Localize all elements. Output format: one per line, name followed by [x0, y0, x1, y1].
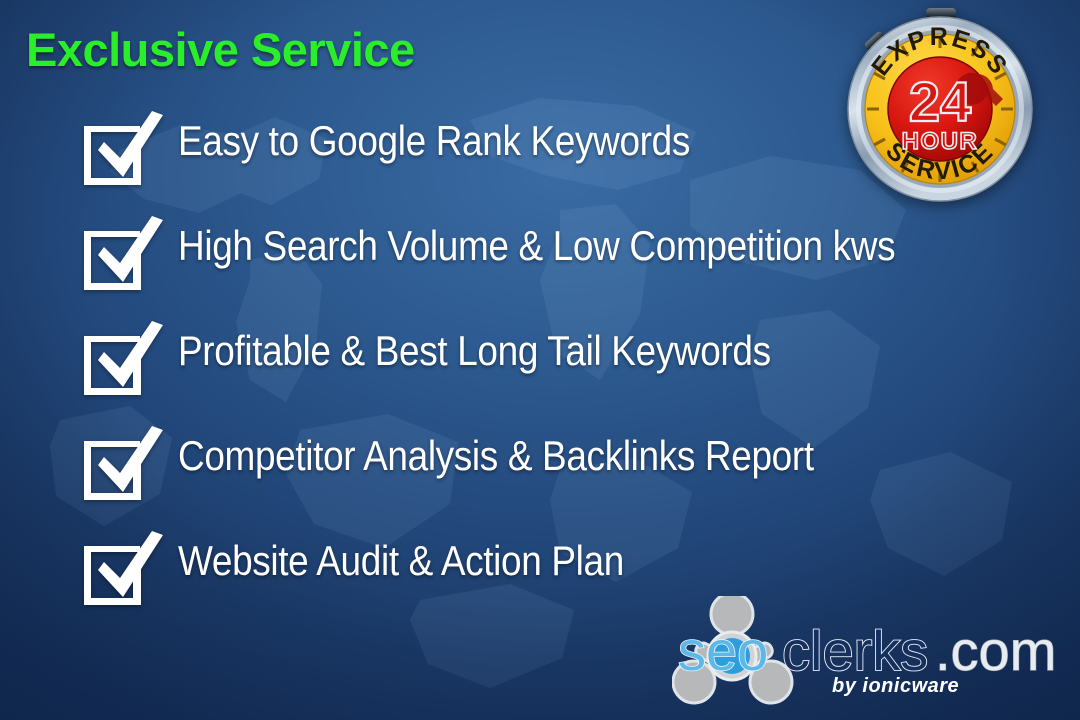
- badge-unit: HOUR: [902, 128, 979, 155]
- list-item: Competitor Analysis & Backlinks Report: [0, 421, 1080, 526]
- slide-canvas: Exclusive Service Easy to Google Rank Ke…: [0, 0, 1080, 720]
- checkbox-checked-icon: [78, 316, 174, 402]
- checkbox-checked-icon: [78, 106, 174, 192]
- badge-number: 24: [909, 70, 971, 133]
- list-item: High Search Volume & Low Competition kws: [0, 211, 1080, 316]
- list-item-label: High Search Volume & Low Competition kws: [178, 211, 895, 267]
- stopwatch-icon: EXPRESS SERVICE 24 HOUR: [838, 6, 1043, 206]
- checkbox-checked-icon: [78, 526, 174, 612]
- list-item: Profitable & Best Long Tail Keywords: [0, 316, 1080, 421]
- page-title: Exclusive Service: [26, 22, 415, 77]
- logo-main: clerks: [782, 619, 928, 682]
- checkbox-checked-icon: [78, 211, 174, 297]
- logo-tagline: by ionicware: [832, 675, 959, 697]
- list-item-label: Competitor Analysis & Backlinks Report: [178, 421, 814, 477]
- list-item-label: Website Audit & Action Plan: [178, 526, 624, 582]
- logo-tld: .com: [935, 619, 1056, 682]
- checkbox-checked-icon: [78, 421, 174, 507]
- list-item-label: Profitable & Best Long Tail Keywords: [178, 316, 771, 372]
- list-item-label: Easy to Google Rank Keywords: [178, 106, 690, 162]
- logo-prefix: seo: [678, 619, 768, 682]
- seoclerks-logo: seo clerks .com by ionicware: [672, 596, 1072, 708]
